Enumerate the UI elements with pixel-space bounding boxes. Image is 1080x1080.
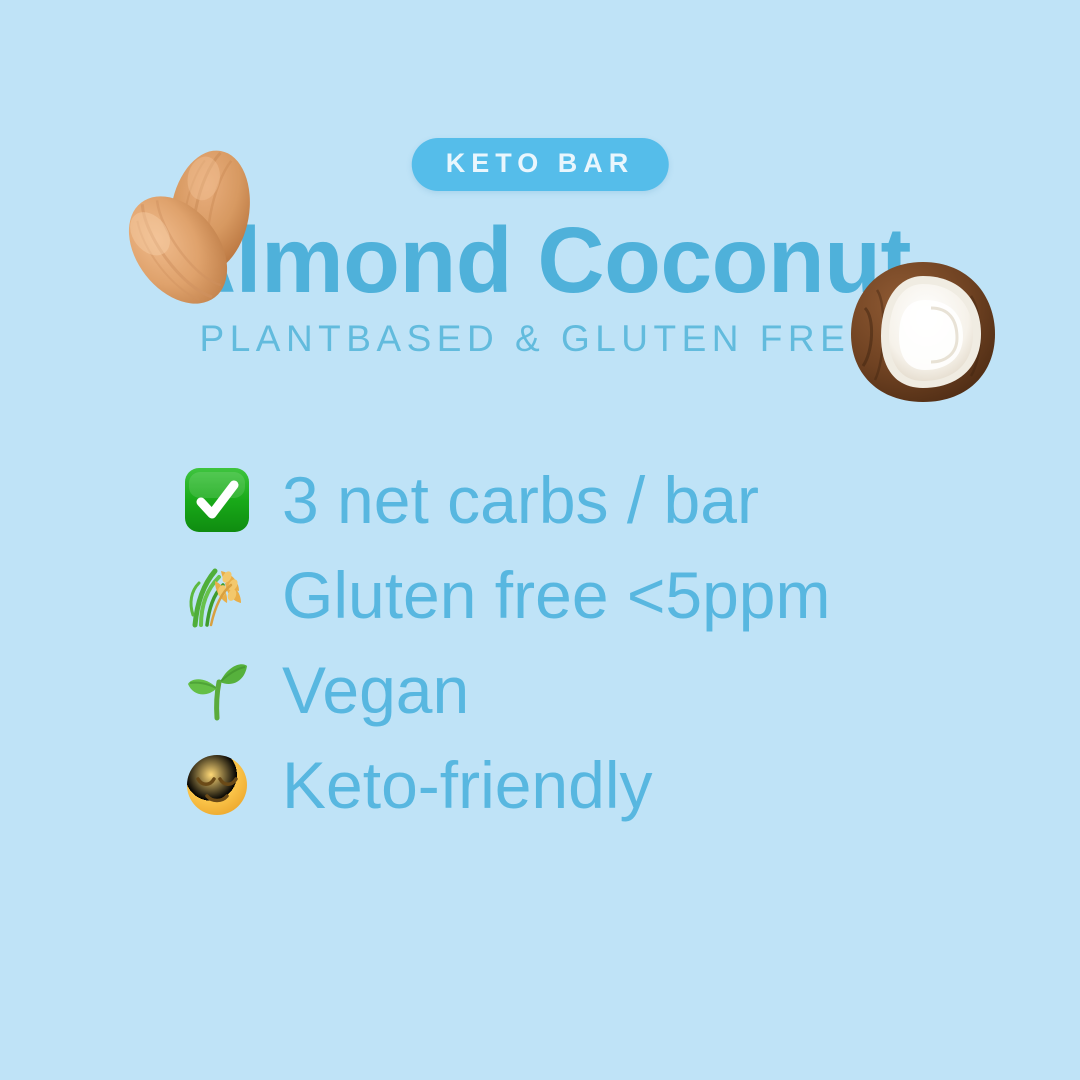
product-poster: KETO BAR Almond Coconut PLANTBASED & GLU… (0, 0, 1080, 1080)
feature-label: Gluten free <5ppm (282, 562, 831, 628)
feature-label: 3 net carbs / bar (282, 467, 759, 533)
list-item: Vegan (178, 642, 998, 737)
seedling-icon (178, 651, 256, 729)
white-check-mark-icon (178, 461, 256, 539)
feature-label: Vegan (282, 657, 469, 723)
list-item: Gluten free <5ppm (178, 547, 998, 642)
feature-label: Keto-friendly (282, 752, 653, 818)
keto-bar-badge: KETO BAR (412, 138, 669, 191)
relieved-face-icon (178, 746, 256, 824)
list-item: Keto-friendly (178, 737, 998, 832)
sheaf-of-rice-icon (178, 556, 256, 634)
coconut-image (843, 256, 1003, 408)
almonds-image (112, 132, 272, 304)
list-item: 3 net carbs / bar (178, 452, 998, 547)
feature-list: 3 net carbs / bar (178, 452, 998, 832)
